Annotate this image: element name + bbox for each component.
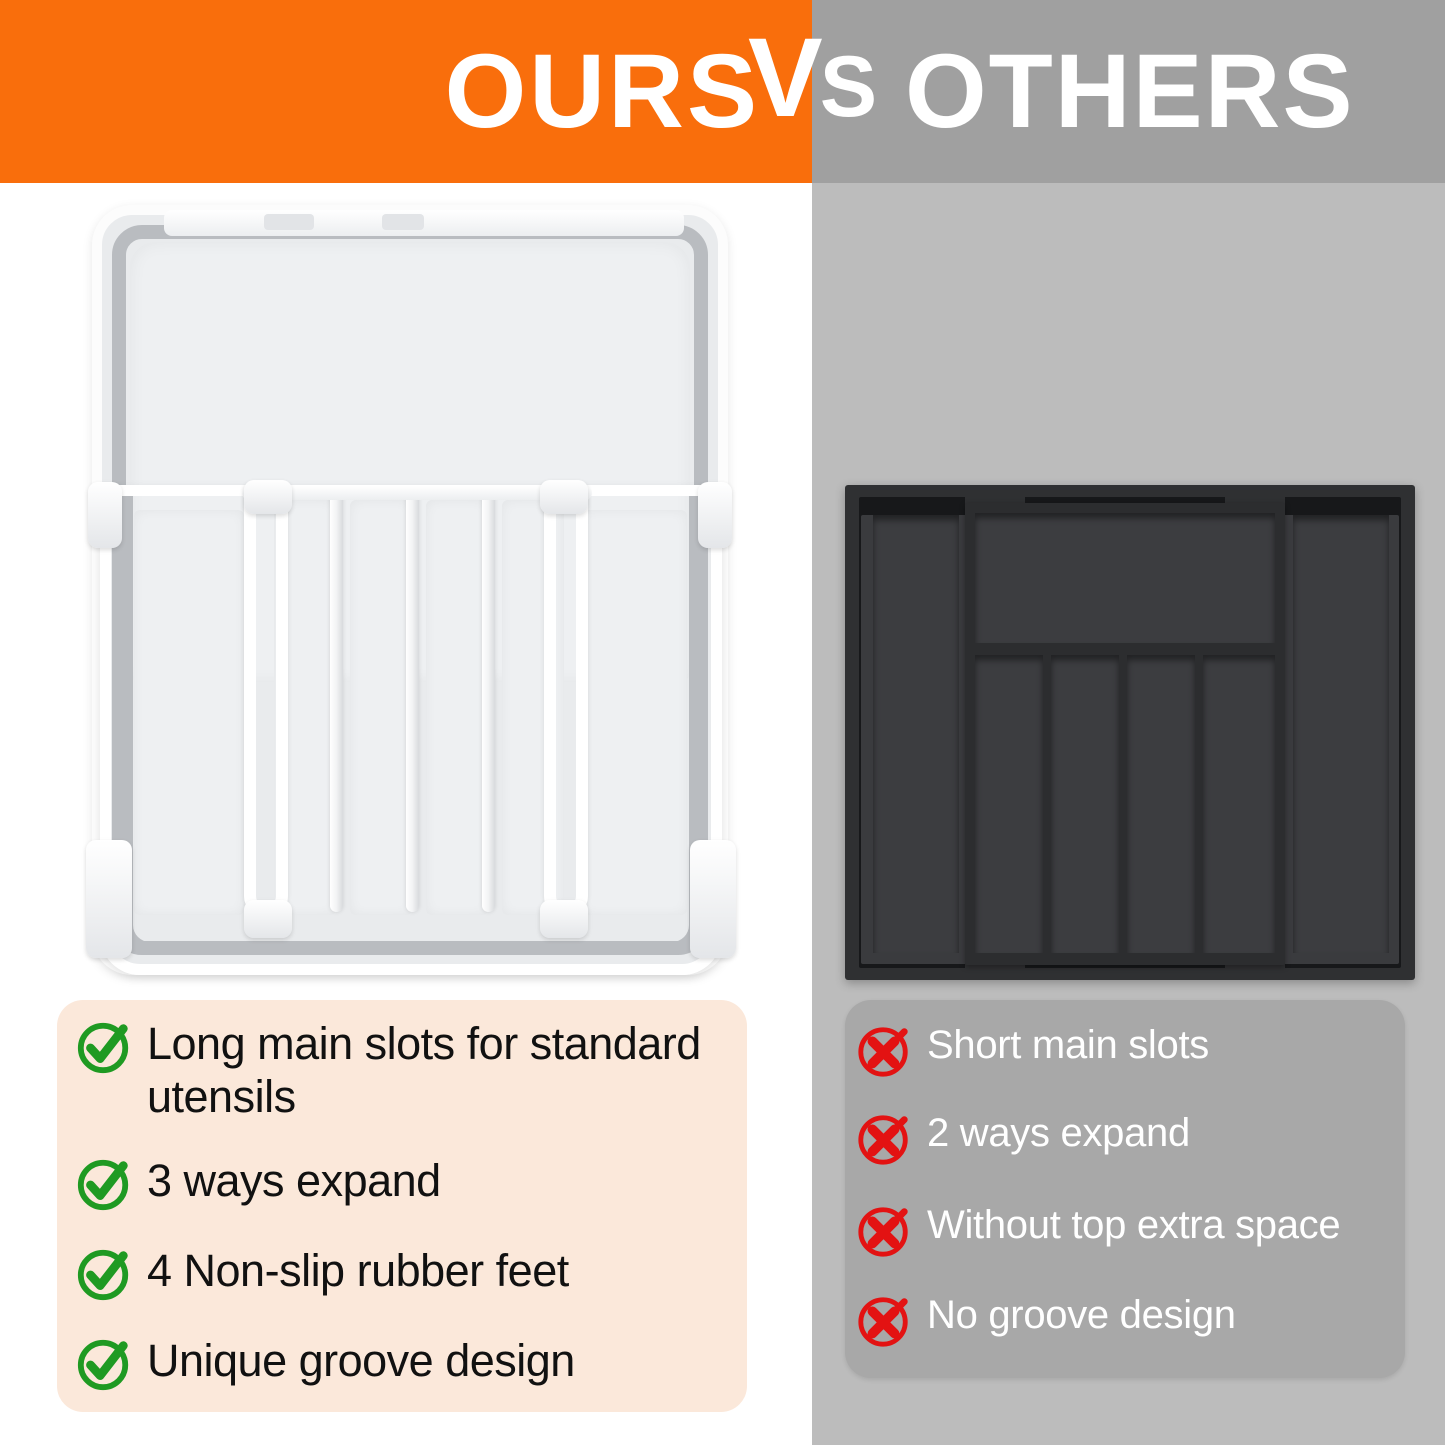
black-tray-insert bbox=[965, 503, 1285, 965]
others-feature-label: Without top extra space bbox=[927, 1202, 1340, 1248]
others-feature-label: No groove design bbox=[927, 1292, 1236, 1338]
others-feature-item-2: 2 ways expand bbox=[855, 1110, 1400, 1168]
black-tray-slot-1 bbox=[975, 655, 1043, 953]
ours-feature-item-3: 4 Non-slip rubber feet bbox=[75, 1245, 755, 1303]
black-tray-top-compartment bbox=[975, 513, 1275, 643]
ours-feature-item-2: 3 ways expand bbox=[75, 1155, 755, 1213]
check-circle-icon bbox=[75, 1335, 133, 1393]
white-tray-bay-2 bbox=[350, 500, 412, 915]
black-tray-side-bay-left bbox=[873, 515, 959, 953]
ours-feature-label: 4 Non-slip rubber feet bbox=[147, 1245, 569, 1298]
others-feature-label: Short main slots bbox=[927, 1022, 1209, 1068]
ours-feature-label: 3 ways expand bbox=[147, 1155, 441, 1208]
others-feature-item-4: No groove design bbox=[855, 1292, 1400, 1350]
ours-feature-item-1: Long main slots for standard utensils bbox=[75, 1018, 755, 1123]
black-tray-side-bay-right bbox=[1293, 515, 1389, 953]
x-circle-icon bbox=[855, 1292, 913, 1350]
x-circle-icon bbox=[855, 1110, 913, 1168]
white-tray-rubber-foot-top-right bbox=[698, 482, 732, 548]
comparison-infographic: OURS VS OTHERS bbox=[0, 0, 1445, 1445]
header-band: OURS VS OTHERS bbox=[0, 0, 1445, 183]
check-circle-icon bbox=[75, 1155, 133, 1213]
ours-product-image bbox=[92, 200, 728, 980]
white-tray-bay-right bbox=[582, 510, 687, 915]
white-tray-divider-rail-1 bbox=[330, 492, 343, 912]
white-tray-groove-tab-1 bbox=[264, 214, 314, 230]
others-product-image bbox=[845, 485, 1415, 980]
others-feature-item-3: Without top extra space bbox=[855, 1202, 1400, 1260]
white-tray-top-rail bbox=[164, 210, 684, 236]
ours-feature-item-4: Unique groove design bbox=[75, 1335, 755, 1393]
white-tray-groove-tab-2 bbox=[382, 214, 424, 230]
x-circle-icon bbox=[855, 1202, 913, 1260]
white-tray-divider-rail-3 bbox=[482, 492, 495, 912]
others-feature-label: 2 ways expand bbox=[927, 1110, 1190, 1156]
white-tray-rubber-foot-bottom-right bbox=[690, 840, 736, 958]
white-tray-divider-rail-2 bbox=[406, 492, 419, 912]
header-vs-label: VS bbox=[748, 22, 888, 152]
white-tray-rubber-foot-top-left bbox=[88, 482, 122, 548]
white-tray-connector-top-right bbox=[540, 480, 588, 514]
white-tray-rubber-foot-bottom-left bbox=[86, 840, 132, 958]
black-tray-slot-3 bbox=[1127, 655, 1195, 953]
ours-feature-label: Unique groove design bbox=[147, 1335, 575, 1388]
vs-s-letter: S bbox=[820, 39, 874, 135]
white-tray-bay-left bbox=[134, 510, 244, 915]
check-circle-icon bbox=[75, 1018, 133, 1076]
white-tray-connector-bottom-right bbox=[540, 900, 588, 938]
white-tray-connector-top-left bbox=[244, 480, 292, 514]
white-tray-connector-bottom-left bbox=[244, 900, 292, 938]
vs-v-letter: V bbox=[748, 15, 820, 140]
header-others-title: OTHERS bbox=[905, 0, 1385, 183]
x-circle-icon bbox=[855, 1022, 913, 1080]
others-feature-item-1: Short main slots bbox=[855, 1022, 1400, 1080]
white-tray-divider-frame-right bbox=[544, 488, 588, 918]
header-ours-title: OURS bbox=[0, 0, 760, 183]
white-tray-bay-3 bbox=[426, 500, 488, 915]
check-circle-icon bbox=[75, 1245, 133, 1303]
black-tray-slot-4 bbox=[1203, 655, 1275, 953]
black-tray-slot-2 bbox=[1051, 655, 1119, 953]
ours-feature-label: Long main slots for standard utensils bbox=[147, 1018, 755, 1123]
white-tray-divider-frame-left bbox=[244, 488, 288, 918]
